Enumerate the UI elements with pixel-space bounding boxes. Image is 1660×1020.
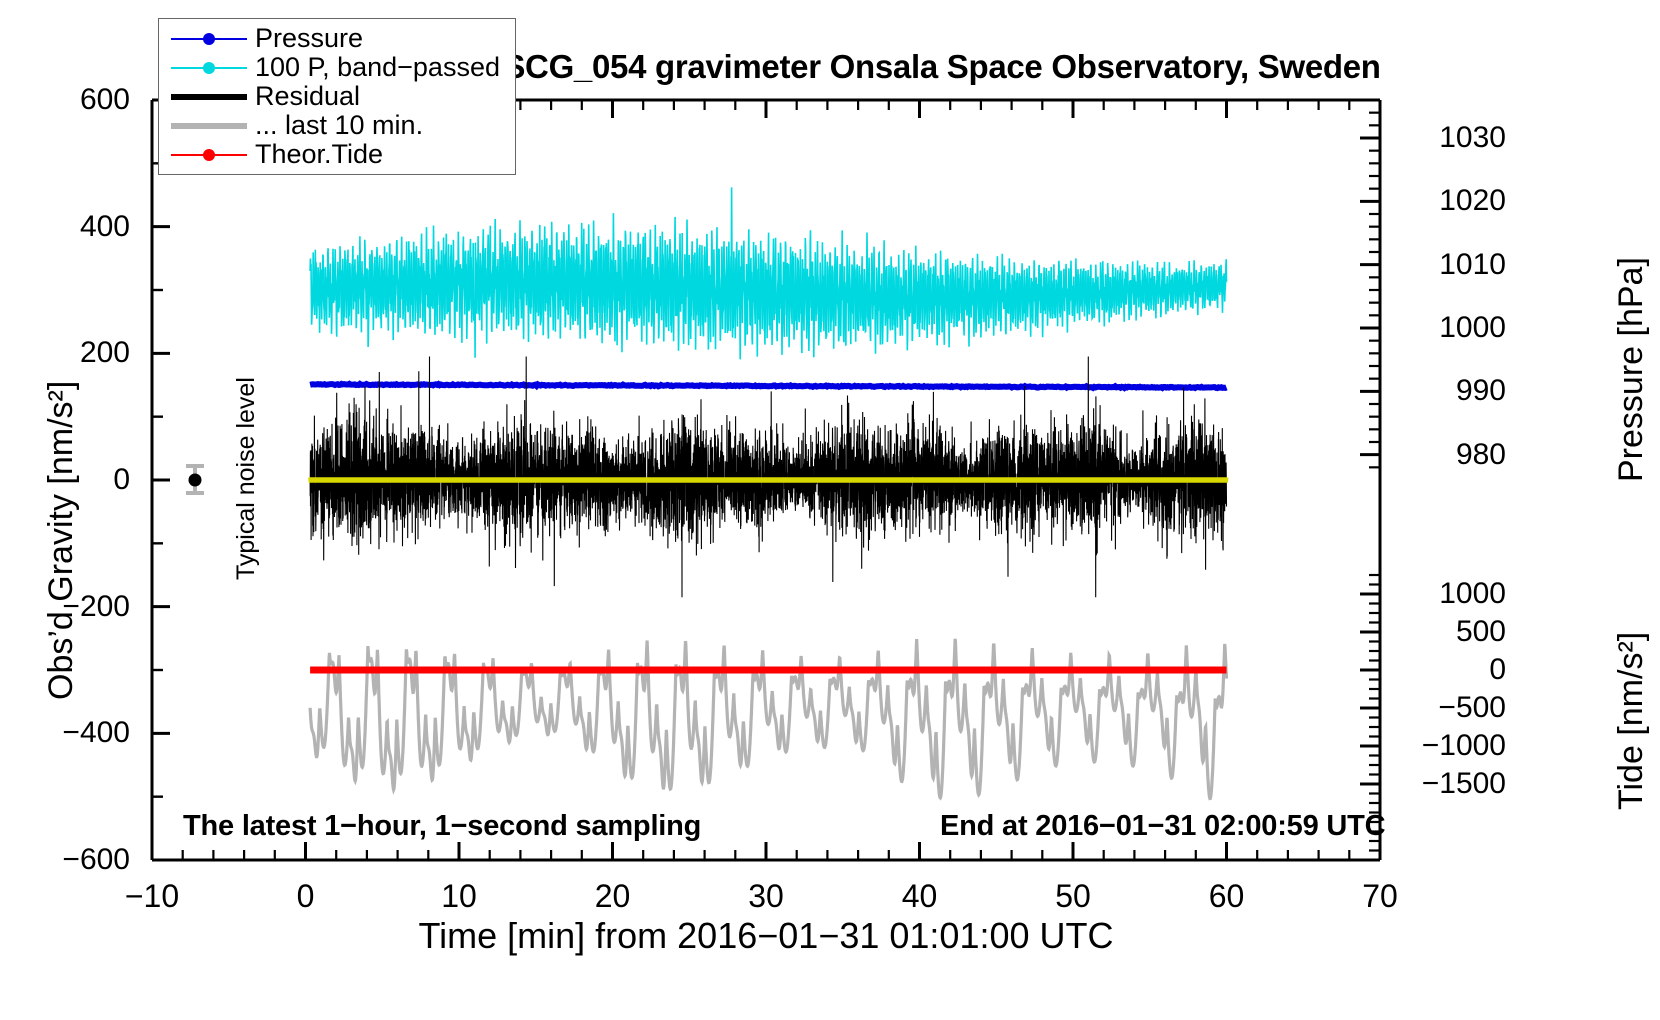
series-pressure-line [310, 384, 1226, 388]
tick-label: −600 [10, 843, 130, 877]
series-last10-line [310, 639, 1226, 799]
tick-label: 40 [902, 878, 938, 915]
tick-label: 0 [10, 463, 130, 497]
tick-label: −1500 [1396, 767, 1506, 801]
legend-item-label: Theor.Tide [251, 141, 383, 168]
legend-marker-dot [203, 149, 215, 161]
y-axis-right-pressure-title: Pressure [hPa] [1612, 257, 1651, 482]
series-residual-line [310, 357, 1226, 598]
tick-label: −10 [125, 878, 179, 915]
legend-item-0[interactable]: Pressure [159, 24, 515, 53]
y-axis-left-title: Obs’d Gravity [nm/s²] [42, 381, 81, 700]
series-bandpassed-line [310, 187, 1226, 359]
typical-noise-level-marker [186, 466, 204, 493]
thick-line-icon [167, 86, 251, 108]
tick-label: 990 [1396, 374, 1506, 408]
legend-item-label: ... last 10 min. [251, 112, 423, 139]
tick-label: 0 [1396, 653, 1506, 687]
tick-label: 500 [1396, 615, 1506, 649]
tick-label: 70 [1362, 878, 1398, 915]
tick-label: 30 [748, 878, 784, 915]
y-axis-right-tide-title: Tide [nm/s²] [1612, 632, 1651, 810]
footer-right-text: End at 2016−01−31 02:00:59 UTC [940, 810, 1385, 843]
tick-label: 50 [1055, 878, 1091, 915]
footer-left-text: The latest 1−hour, 1−second sampling [183, 810, 701, 843]
line-marker-icon [167, 144, 251, 166]
legend-item-label: 100 P, band−passed [251, 54, 500, 81]
tick-label: −1000 [1396, 729, 1506, 763]
tick-label: 60 [1209, 878, 1245, 915]
legend-line-swatch [171, 123, 247, 129]
tick-label: 1000 [1396, 311, 1506, 345]
legend-item-2[interactable]: Residual [159, 82, 515, 111]
tick-label: 1030 [1396, 121, 1506, 155]
legend-line-swatch [171, 94, 247, 100]
tick-label: 200 [10, 336, 130, 370]
tick-label: 10 [441, 878, 477, 915]
legend-item-3[interactable]: ... last 10 min. [159, 111, 515, 140]
x-axis-title: Time [min] from 2016−01−31 01:01:00 UTC [418, 915, 1113, 957]
legend-item-label: Residual [251, 83, 360, 110]
legend-item-label: Pressure [251, 25, 363, 52]
tick-label: 1000 [1396, 577, 1506, 611]
tick-label: 400 [10, 210, 130, 244]
legend[interactable]: Pressure100 P, band−passedResidual... la… [158, 18, 516, 175]
tick-label: −200 [10, 590, 130, 624]
line-marker-icon [167, 28, 251, 50]
series-zero-line [310, 478, 1226, 483]
tick-label: 980 [1396, 438, 1506, 472]
thick-line-icon [167, 115, 251, 137]
page-title: SCG_054 gravimeter Onsala Space Observat… [503, 48, 1380, 86]
tick-label: 0 [297, 878, 315, 915]
data-traces [310, 187, 1226, 798]
typical-noise-level-label: Typical noise level [232, 377, 261, 580]
tick-label: −500 [1396, 691, 1506, 725]
tick-label: −400 [10, 716, 130, 750]
legend-marker-dot [203, 33, 215, 45]
legend-item-1[interactable]: 100 P, band−passed [159, 53, 515, 82]
tick-label: 1010 [1396, 248, 1506, 282]
legend-marker-dot [203, 62, 215, 74]
tick-label: 20 [595, 878, 631, 915]
tick-label: 600 [10, 83, 130, 117]
tick-label: 1020 [1396, 184, 1506, 218]
line-marker-icon [167, 57, 251, 79]
legend-item-4[interactable]: Theor.Tide [159, 140, 515, 169]
